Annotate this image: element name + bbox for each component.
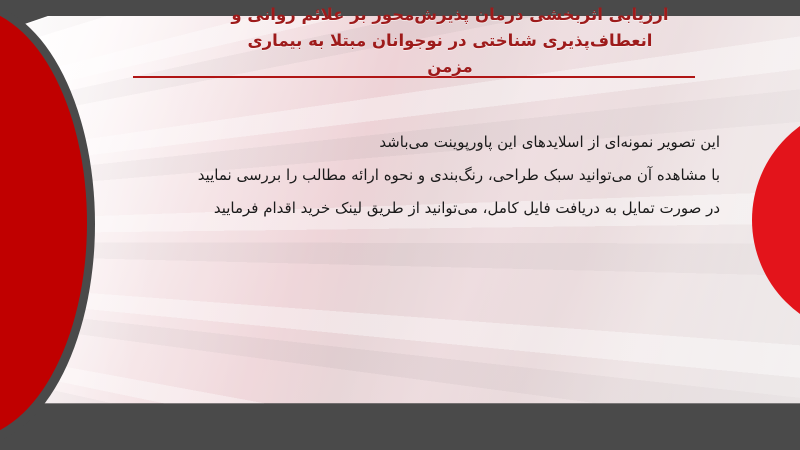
slide-title: ارزیابی اثربخشی درمان پذیرش‌محور بر علائ…	[120, 2, 780, 80]
slide-body-line-1: این تصویر نمونه‌ای از اسلایدهای این پاور…	[60, 126, 720, 159]
slide-body-line-3: در صورت تمایل به دریافت فایل کامل، می‌تو…	[60, 192, 720, 225]
slide-body-line-2: با مشاهده آن می‌توانید سبک طراحی، رنگ‌بن…	[60, 159, 720, 192]
slide-title-line-1: ارزیابی اثربخشی درمان پذیرش‌محور بر علائ…	[120, 2, 780, 28]
slide-title-line-3: مزمن	[120, 54, 780, 80]
slide-body-text: این تصویر نمونه‌ای از اسلایدهای این پاور…	[60, 126, 720, 225]
slide-title-line-2: انعطاف‌پذیری شناختی در نوجوانان مبتلا به…	[120, 28, 780, 54]
presentation-slide: ارزیابی اثربخشی درمان پذیرش‌محور بر علائ…	[0, 0, 800, 450]
